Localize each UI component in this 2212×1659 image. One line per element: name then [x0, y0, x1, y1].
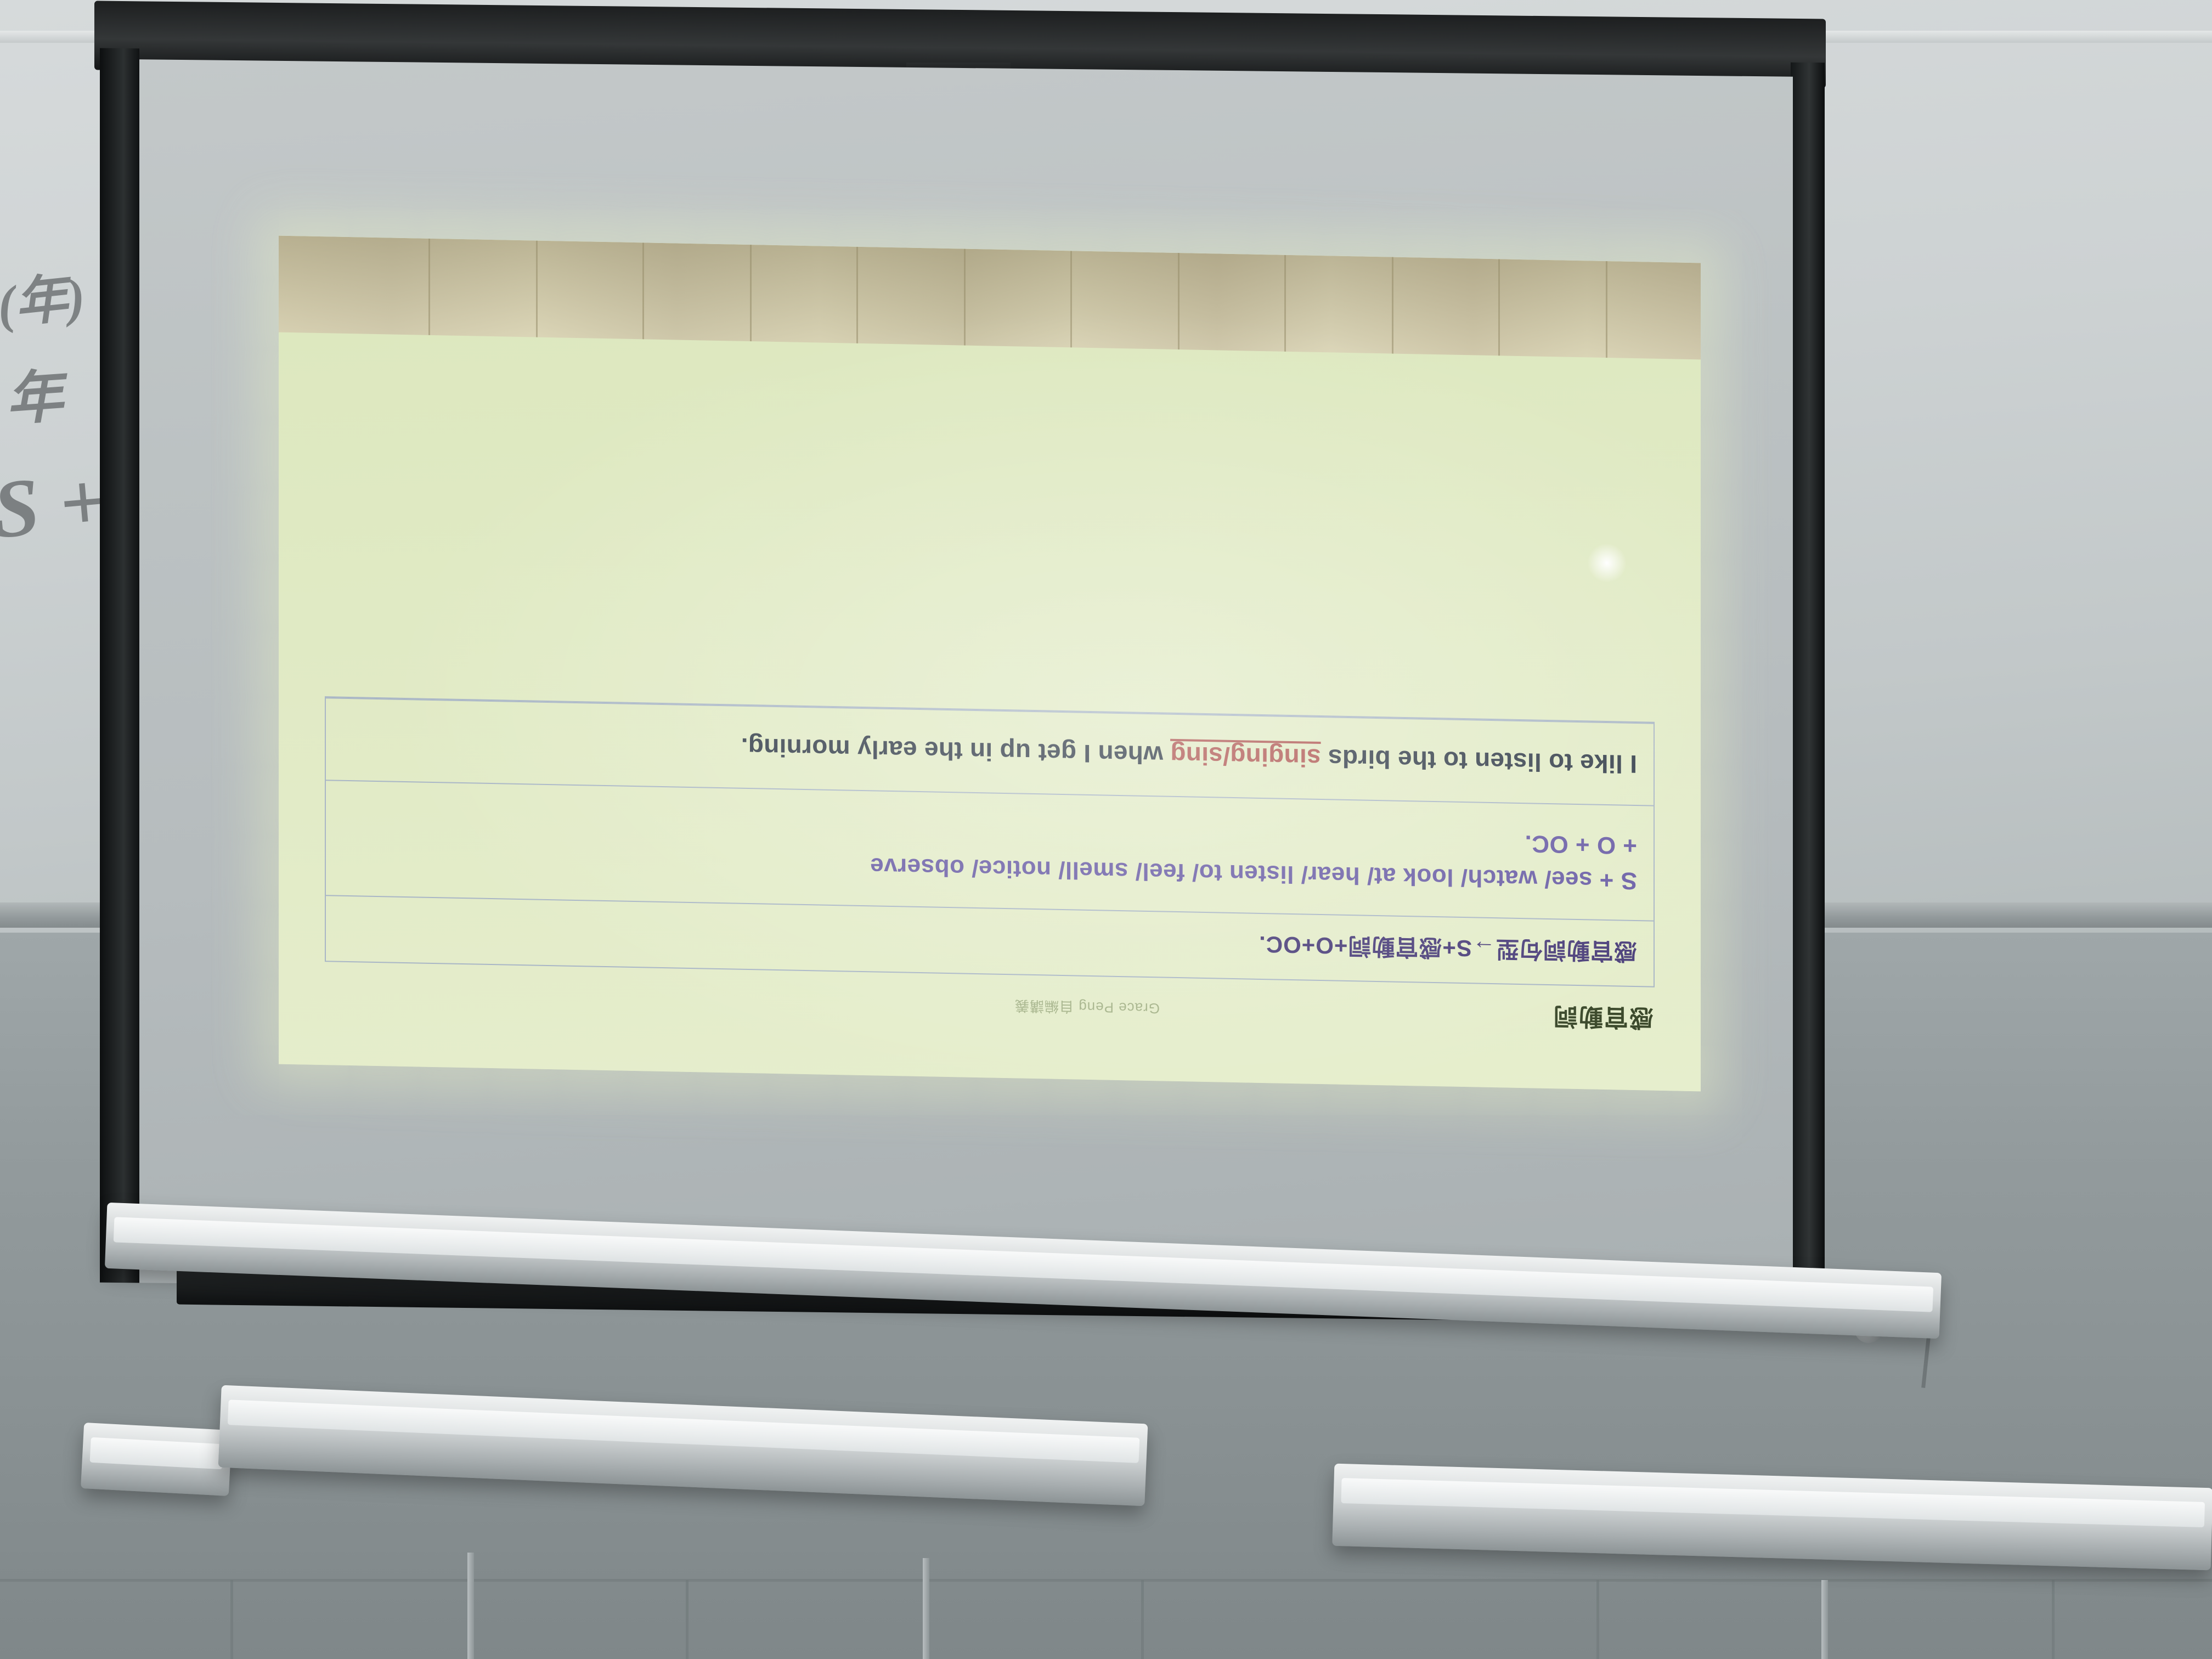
- wood-plank-seam: [428, 239, 430, 335]
- pattern-text: 感官動詞句型→S+感官動詞+O+OC.: [1259, 929, 1637, 970]
- light-fixture-small-left: [81, 1423, 232, 1496]
- whiteboard-handwriting-1: (年): [0, 253, 88, 338]
- screen-rail-left: [100, 48, 139, 1283]
- projected-slide: 感官動詞 Grace Peng 自編講義 感官動詞句型→S+感官動詞+O+OC.…: [279, 236, 1701, 1092]
- tile-seam-horizontal: [0, 1579, 2212, 1582]
- whiteboard-handwriting-2: 年: [3, 349, 65, 436]
- wood-plank-seam: [642, 242, 644, 339]
- support-pipe: [467, 1553, 474, 1659]
- tile-seam-vertical: [1596, 1580, 1599, 1659]
- wood-plank-seam: [750, 245, 752, 341]
- screen-canvas: 感官動詞 Grace Peng 自編講義 感官動詞句型→S+感官動詞+O+OC.…: [139, 59, 1793, 1300]
- slide-body: 感官動詞 Grace Peng 自編講義 感官動詞句型→S+感官動詞+O+OC.…: [279, 332, 1701, 1092]
- wood-plank-seam: [536, 241, 538, 337]
- wood-plank-seam: [1606, 261, 1607, 358]
- example-segment-highlight: singing/sing: [1170, 741, 1321, 772]
- tile-seam-vertical: [230, 1580, 233, 1659]
- wood-plank-seam: [1498, 259, 1500, 356]
- screen-rail-right: [1791, 63, 1825, 1319]
- tile-seam-vertical: [2052, 1580, 2055, 1659]
- wood-plank-seam: [1178, 253, 1180, 349]
- projector-screen: 感官動詞 Grace Peng 自編講義 感官動詞句型→S+感官動詞+O+OC.…: [94, 10, 1826, 1332]
- example-sentence: I like to listen to the birds singing/si…: [741, 732, 1637, 779]
- wood-plank-seam: [1392, 257, 1393, 354]
- tile-seam-vertical: [1141, 1580, 1144, 1659]
- tile-seam-vertical: [686, 1580, 689, 1659]
- example-segment-plain-1: I like to listen to the birds: [1321, 744, 1637, 778]
- wood-plank-seam: [856, 247, 858, 343]
- example-segment-plain-2: when I get up in the early morning.: [741, 733, 1170, 770]
- support-pipe: [923, 1558, 929, 1659]
- wood-plank-seam: [1284, 255, 1286, 352]
- light-diffuser: [90, 1437, 224, 1470]
- projector-hotspot: [1588, 544, 1626, 583]
- grammar-table: 感官動詞句型→S+感官動詞+O+OC. S + see/ watch/ look…: [325, 696, 1655, 988]
- wood-plank-seam: [964, 249, 966, 346]
- support-pipe: [1821, 1580, 1828, 1659]
- light-diffuser: [1341, 1478, 2205, 1527]
- classroom-scene: (年) 年 S + 句 感官動詞 Grace Peng 自編講義 感官動詞句型→…: [0, 0, 2212, 1659]
- slide-title: 感官動詞: [1553, 1001, 1654, 1038]
- wood-plank-seam: [1070, 251, 1072, 347]
- slide-watermark: Grace Peng 自編講義: [1014, 996, 1160, 1019]
